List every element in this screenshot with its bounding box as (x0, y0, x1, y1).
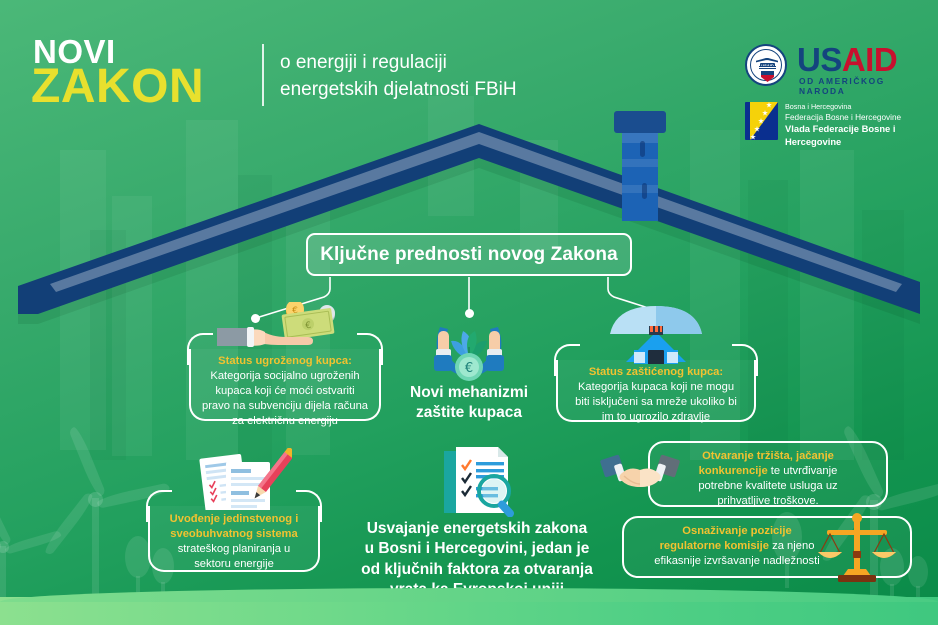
card-market-line4: prihvatljive troškove. (717, 495, 818, 507)
card-market-line3: potrebne kvalitete usluga uz (698, 480, 837, 492)
main-banner: Ključne prednosti novog Zakona (306, 233, 632, 276)
scales-of-justice-icon (814, 511, 900, 583)
header-subtitle-line1: o energiji i regulaciji (280, 50, 640, 77)
card-regulatory-heading1: Osnaživanje pozicije (682, 525, 791, 537)
card-market-heading1: Otvaranje tržišta, jačanje (702, 450, 834, 462)
card-eu-laws-line2: u Bosni i Hercegovini, jedan je (365, 540, 590, 557)
card-regulatory-line3: efikasnije izvršavanje nadležnosti (654, 555, 819, 567)
house-umbrella-icon (604, 302, 708, 364)
card-protected-line1: Kategorija kupaca koji ne mogu (578, 381, 734, 393)
card-protected-text: Status zaštićenog kupca: Kategorija kupa… (556, 365, 756, 425)
header-divider (262, 44, 264, 106)
chimney (614, 111, 666, 221)
card-vulnerable-line1: Kategorija socijalno ugroženih (210, 370, 359, 382)
usaid-seal-icon: USAID (745, 44, 787, 86)
card-vulnerable-text: Status ugroženog kupca: Kategorija socij… (189, 354, 381, 428)
bih-line3: Vlada Federacije Bosne i Hercegovine (785, 123, 935, 149)
card-regulatory-line2-rest: za njeno (769, 540, 814, 552)
bih-line2: Federacija Bosne i Hercegovine (785, 112, 935, 123)
card-new-mechanisms-line1: Novi mehanizmi (410, 384, 528, 401)
card-market-text: Otvaranje tržišta, jačanje konkurencije … (648, 449, 888, 509)
card-vulnerable-line3: pravo na subvenciju dijela računa (202, 400, 368, 412)
infographic-canvas: NOVI ZAKON o energiji i regulaciji energ… (0, 0, 938, 625)
usaid-wordmark: USAID (797, 43, 897, 76)
bih-flag-icon (745, 102, 778, 140)
card-market-heading2: konkurencije (699, 465, 768, 477)
usaid-word-aid: AID (842, 41, 897, 78)
card-regulatory-heading2: regulatorne komisije (660, 540, 769, 552)
header-subtitle: o energiji i regulaciji energetskih djel… (280, 50, 640, 104)
bottom-strip (0, 597, 938, 625)
hand-money-icon: € € (207, 302, 337, 354)
card-strategic-heading1: Uvođenje jedinstvenog i (170, 513, 299, 525)
card-regulatory-commission[interactable]: Osnaživanje pozicije regulatorne komisij… (622, 516, 912, 578)
documents-pencil-icon (176, 448, 292, 510)
usaid-logo: USAID USAID OD AMERIČKOG NARODA (745, 44, 915, 88)
bih-line1: Bosna i Hercegovina (785, 102, 935, 112)
card-vulnerable-customer[interactable]: € € Status ugroženog kupca: Kategorija s… (189, 349, 381, 421)
bih-text-block: Bosna i Hercegovina Federacija Bosne i H… (785, 102, 935, 149)
bih-government-logo: Bosna i Hercegovina Federacija Bosne i H… (745, 102, 935, 142)
card-protected-heading: Status zaštićenog kupca: (589, 366, 723, 378)
chimney-cap (614, 111, 666, 133)
chimney-detail (640, 141, 645, 157)
card-new-mechanisms[interactable]: € Novi mehanizmi zaštite kupaca (398, 313, 540, 411)
card-strategic-planning[interactable]: Uvođenje jedinstvenog i sveobuhvatnog si… (148, 506, 320, 572)
card-new-mechanisms-text: Novi mehanizmi zaštite kupaca (398, 383, 540, 424)
main-banner-title: Ključne prednosti novog Zakona (320, 244, 618, 266)
header-subtitle-line2: energetskih djelatnosti FBiH (280, 77, 640, 104)
card-market-opening[interactable]: Otvaranje tržišta, jačanje konkurencije … (648, 441, 888, 507)
chimney-detail (642, 183, 647, 199)
card-strategic-text: Uvođenje jedinstvenog i sveobuhvatnog si… (148, 512, 320, 572)
bg-building (800, 150, 854, 460)
usaid-tagline: OD AMERIČKOG NARODA (799, 76, 915, 96)
page-title-line2: ZAKON (31, 63, 204, 111)
usaid-word-us: US (797, 41, 842, 78)
hands-plant-coin-icon: € (424, 313, 514, 381)
card-strategic-heading2: sveobuhvatnog sistema (170, 528, 297, 540)
card-protected-customer[interactable]: Status zaštićenog kupca: Kategorija kupa… (556, 360, 756, 422)
card-market-line2-rest: te utvrđivanje (768, 465, 838, 477)
bg-building (862, 210, 904, 460)
card-vulnerable-line4: za električnu energiju (232, 415, 338, 427)
card-eu-laws-line3: od ključnih faktora za otvaranja (361, 561, 593, 578)
card-vulnerable-line2: kupaca koji će moći ostvariti (215, 385, 354, 397)
card-new-mechanisms-line2: zaštite kupaca (416, 404, 522, 421)
card-strategic-line2: sektoru energije (194, 558, 274, 570)
handshake-icon (600, 447, 680, 499)
card-protected-line2: biti isključeni sa mreže ukoliko bi (575, 396, 737, 408)
checklist-magnifier-icon (428, 443, 524, 517)
card-eu-laws-line1: Usvajanje energetskih zakona (367, 520, 588, 537)
svg-text:€: € (465, 361, 473, 376)
card-eu-laws[interactable]: Usvajanje energetskih zakona u Bosni i H… (352, 443, 602, 583)
card-vulnerable-heading: Status ugroženog kupca: (218, 355, 352, 367)
card-strategic-line1: strateškog planiranja u (178, 543, 291, 555)
card-protected-line3: im to ugrozilo zdravlje (602, 411, 710, 423)
